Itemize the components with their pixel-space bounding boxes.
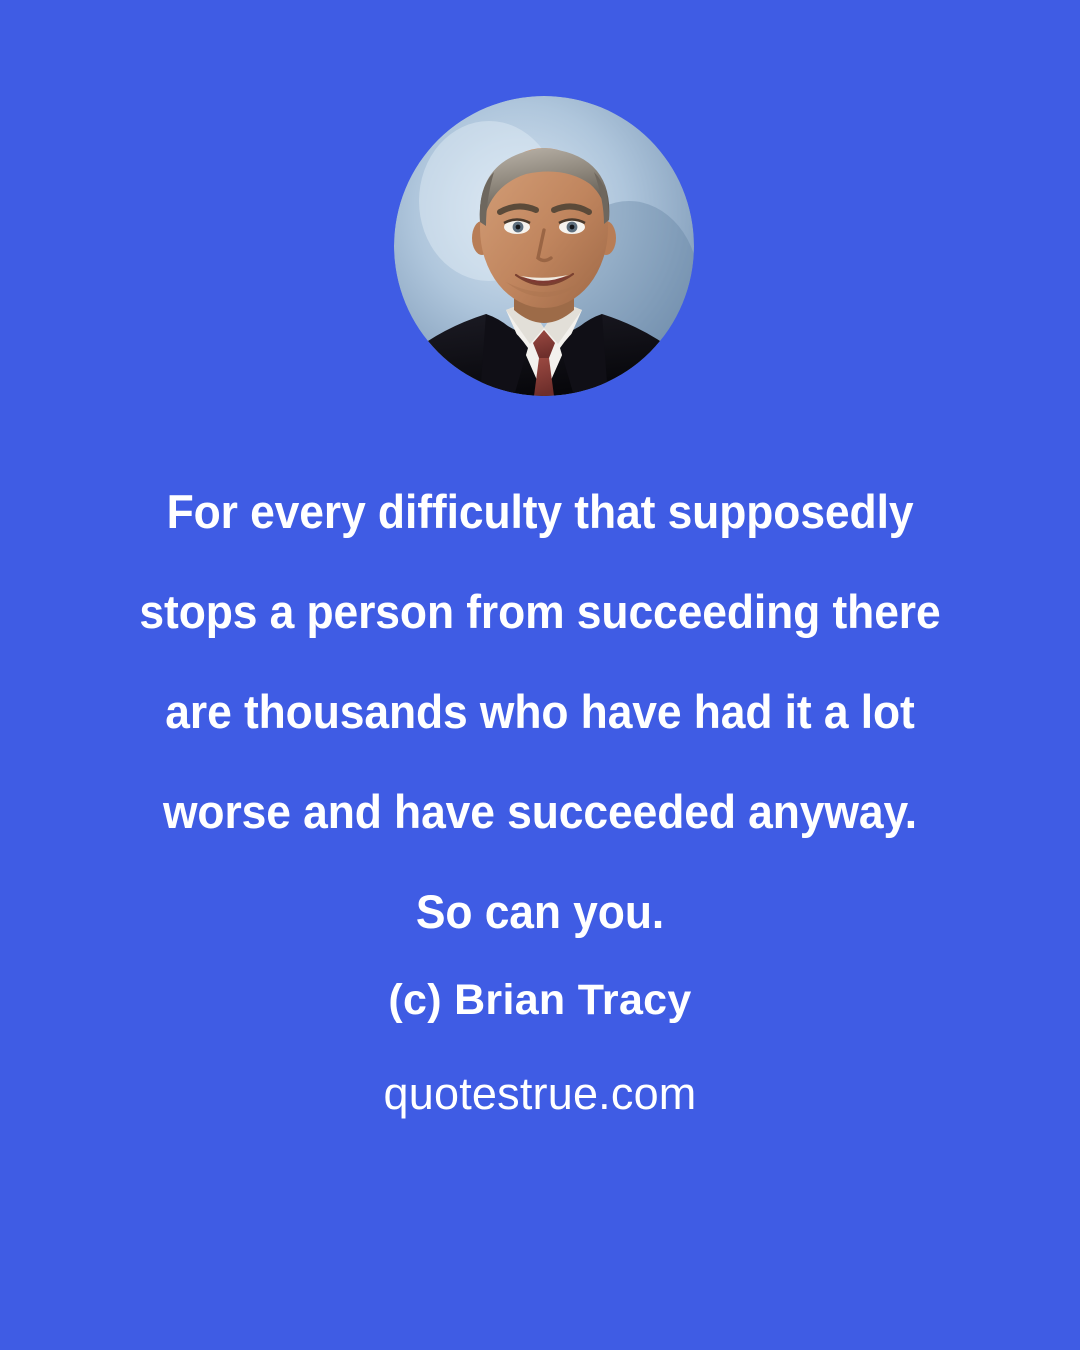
quote-line: stops a person from succeeding there: [30, 562, 1051, 662]
quote-line: So can you.: [30, 862, 1051, 962]
quote-line: For every difficulty that supposedly: [30, 462, 1051, 562]
author-portrait-avatar: [394, 96, 694, 396]
quote-line: worse and have succeeded anyway.: [30, 762, 1051, 862]
site-watermark: quotestrue.com: [0, 1068, 1080, 1120]
person-portrait-photo: [394, 96, 694, 396]
quote-attribution: (c) Brian Tracy: [0, 976, 1080, 1025]
quote-card: For every difficulty that supposedly sto…: [0, 0, 1080, 1350]
quote-line: are thousands who have had it a lot: [30, 662, 1051, 762]
quote-text: For every difficulty that supposedly sto…: [0, 462, 1080, 962]
